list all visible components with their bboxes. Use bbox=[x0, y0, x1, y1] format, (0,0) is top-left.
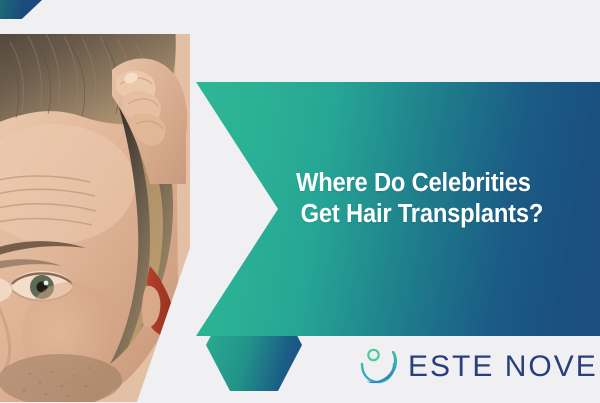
leaf-person-icon bbox=[356, 342, 406, 392]
page-title-line-2: Get Hair Transplants? bbox=[296, 199, 600, 230]
brand-logo-text: ESTE NOVE bbox=[408, 352, 598, 382]
hero-photo bbox=[0, 34, 190, 402]
page-title-line-1: Where Do Celebrities bbox=[296, 168, 600, 199]
man-checking-hairline-illustration bbox=[0, 34, 190, 402]
brand-logo[interactable]: ESTE NOVE bbox=[356, 342, 598, 392]
corner-accent-icon bbox=[0, 0, 42, 19]
hero-photo-image bbox=[0, 34, 190, 402]
blog-banner: Where Do Celebrities Get Hair Transplant… bbox=[0, 0, 600, 403]
page-title: Where Do Celebrities Get Hair Transplant… bbox=[296, 168, 600, 230]
